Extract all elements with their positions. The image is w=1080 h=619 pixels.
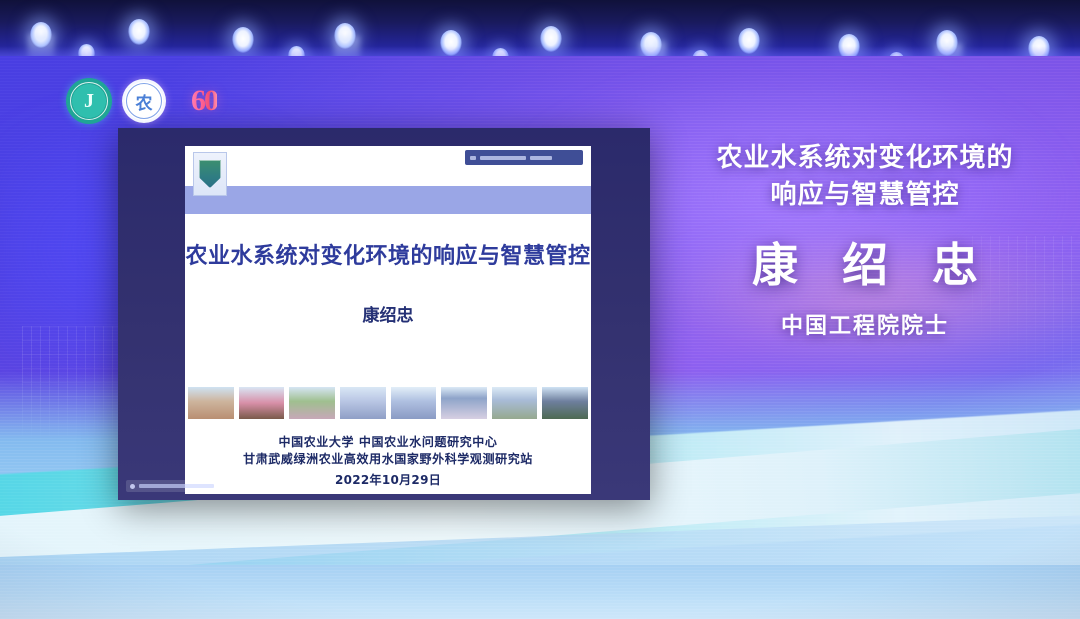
slide-author: 康绍忠 <box>185 301 591 326</box>
ceiling-truss <box>0 0 1080 62</box>
slide-photo <box>390 386 438 420</box>
projection-screen: 农业水系统对变化环境的响应与智慧管控 康绍忠 中国农业大学 中国农业水问题研究中… <box>118 128 650 500</box>
topic-line-1: 农业水系统对变化环境的 <box>665 140 1065 177</box>
ceiling-spotlight <box>936 30 958 56</box>
ceiling-spotlight <box>128 19 150 45</box>
slide-photo <box>288 386 336 420</box>
screen-corner-watermark <box>126 480 218 492</box>
university-seal-teal-icon: J <box>66 78 112 124</box>
speaker-role: 中国工程院院士 <box>665 308 1065 340</box>
slide-photo <box>440 386 488 420</box>
watermark-bar <box>139 484 214 488</box>
slide-date: 2022年10月29日 <box>185 471 591 488</box>
topic-line-2: 响应与智慧管控 <box>665 177 1065 214</box>
slide-affiliation-line-2: 甘肃武威绿洲农业高效用水国家野外科学观测研究站 <box>185 451 591 468</box>
wave-layer <box>0 565 1080 619</box>
slide-photo <box>541 386 589 420</box>
watermark-dot <box>130 484 135 489</box>
slide-photo <box>491 386 539 420</box>
ceiling-spotlight <box>738 28 760 54</box>
conference-stage-photo: J 农 60 农业水系统对变化环境的响应与智慧管控 康绍忠 <box>0 0 1080 619</box>
speaker-name: 康 绍 忠 <box>679 240 1065 291</box>
slide-photo <box>238 386 286 420</box>
ceiling-spotlight <box>232 27 254 53</box>
slide-photo <box>187 386 235 420</box>
backdrop-logo-row: J 农 60 <box>66 78 232 124</box>
anniversary-mark: 60 <box>191 84 217 118</box>
slide-photo <box>339 386 387 420</box>
slide-photo-strip <box>187 386 589 420</box>
seal-ring <box>126 83 162 119</box>
university-crest-icon <box>193 152 227 196</box>
watermark-bar <box>530 156 552 160</box>
slide-watermark-overlay <box>465 150 583 165</box>
slide-header-band <box>185 186 591 214</box>
ceiling-spotlight <box>540 26 562 52</box>
watermark-bar <box>480 156 526 160</box>
slide-title: 农业水系统对变化环境的响应与智慧管控 <box>185 238 591 270</box>
ceiling-spotlight <box>440 30 462 56</box>
slide-footer: 中国农业大学 中国农业水问题研究中心 甘肃武威绿洲农业高效用水国家野外科学观测研… <box>185 434 591 488</box>
seal-ring <box>70 82 108 120</box>
anniversary-60-logo-icon: 60 <box>176 80 232 122</box>
institute-seal-white-icon: 农 <box>122 79 166 123</box>
crest-shield <box>199 160 221 188</box>
speaker-title-panel: 农业水系统对变化环境的 响应与智慧管控 康 绍 忠 中国工程院院士 <box>665 140 1065 340</box>
watermark-bar <box>470 156 476 160</box>
slide-affiliation-line-1: 中国农业大学 中国农业水问题研究中心 <box>185 434 591 451</box>
presentation-slide: 农业水系统对变化环境的响应与智慧管控 康绍忠 中国农业大学 中国农业水问题研究中… <box>185 146 591 494</box>
